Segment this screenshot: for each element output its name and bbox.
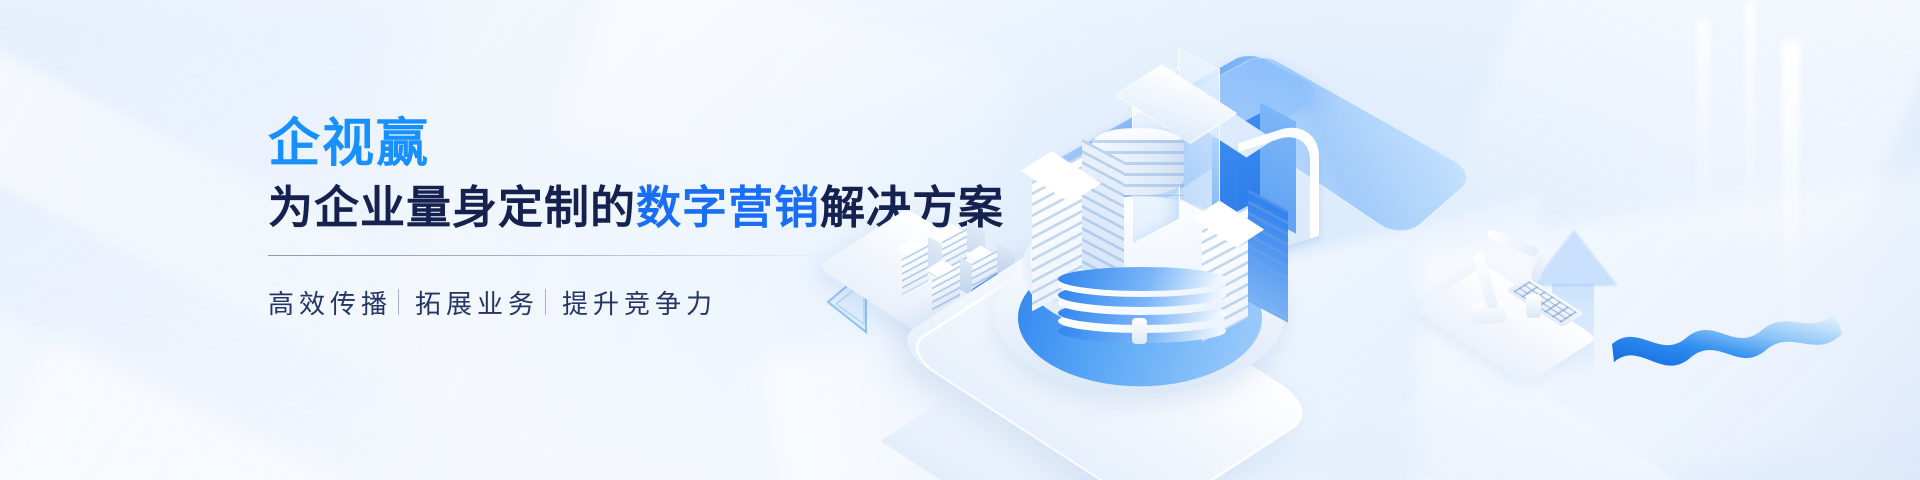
tagline-item-2: 拓展业务 <box>415 284 539 321</box>
striped-tower-side <box>1248 189 1288 322</box>
hero-banner: 企视赢 为企业量身定制的数字营销解决方案 高效传播 拓展业务 提升竞争力 <box>0 0 1920 480</box>
hero-illustration <box>840 0 1920 480</box>
headline-highlight: 数字营销 <box>636 182 820 233</box>
platform-peg-right <box>1526 294 1541 318</box>
headline: 为企业量身定制的数字营销解决方案 <box>268 184 908 233</box>
brand-name: 企视赢 <box>268 118 908 170</box>
tagline-separator-1 <box>398 289 399 315</box>
tagline: 高效传播 拓展业务 提升竞争力 <box>268 284 908 321</box>
wavy-ribbon <box>1610 300 1850 390</box>
hero-text-block: 企视赢 为企业量身定制的数字营销解决方案 高效传播 拓展业务 提升竞争力 <box>268 118 908 321</box>
tagline-separator-2 <box>545 289 546 315</box>
headline-divider <box>268 255 833 256</box>
headline-prefix: 为企业量身定制的 <box>268 182 636 233</box>
tagline-item-1: 高效传播 <box>268 284 392 321</box>
stack-layer <box>1058 267 1226 291</box>
tagline-item-3: 提升竞争力 <box>562 284 717 321</box>
platform-peg-left <box>1132 318 1147 344</box>
